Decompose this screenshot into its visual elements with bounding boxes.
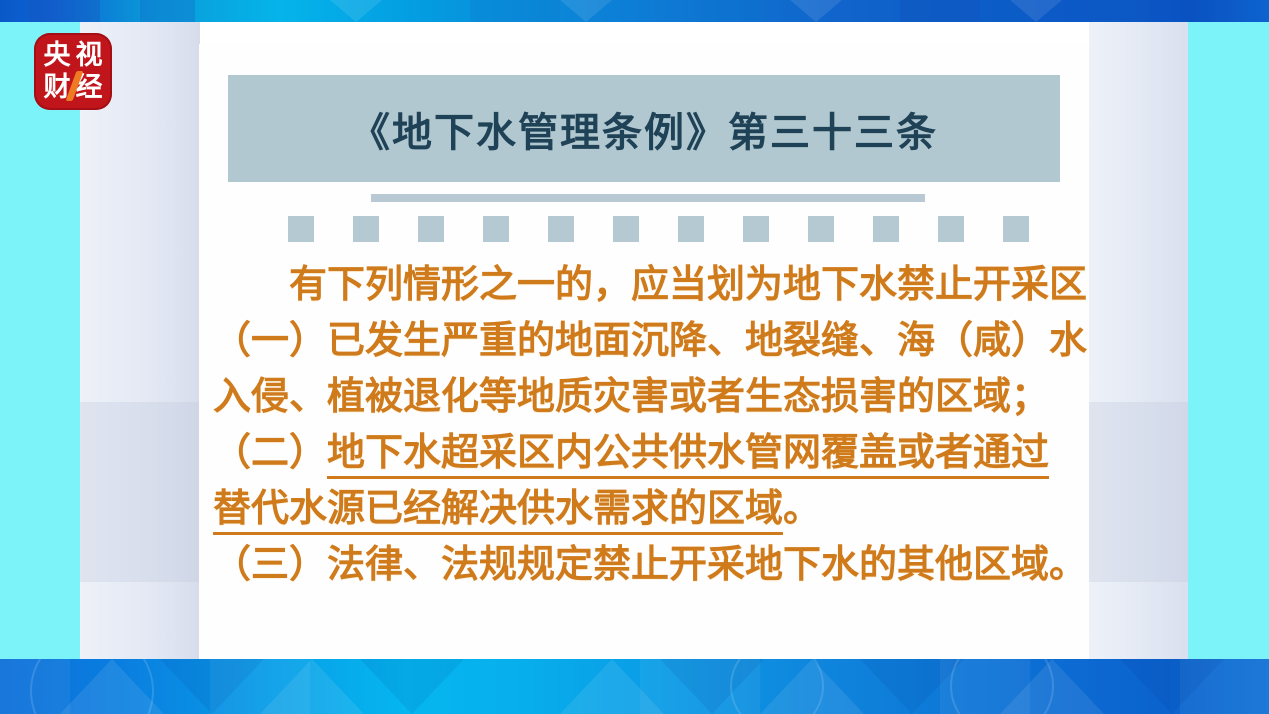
band-circle bbox=[30, 659, 154, 714]
right-gutter bbox=[1089, 22, 1188, 659]
body-line-item-1b: 入侵、植被退化等地质灾害或者生态损害的区域； bbox=[213, 368, 1079, 424]
band-triangle bbox=[1120, 659, 1224, 714]
left-gutter bbox=[80, 22, 200, 659]
band-circle bbox=[730, 659, 824, 714]
title-banner: 《地下水管理条例》第三十三条 bbox=[228, 75, 1060, 182]
body-line-text: （一）已发生严重的地面沉降、地裂缝、海（咸）水 bbox=[213, 318, 1087, 362]
body-line-text-underlined: 替代水源已经解决供水需求的区域 bbox=[213, 486, 783, 535]
right-cyan-panel bbox=[1188, 22, 1269, 659]
page-title: 《地下水管理条例》第三十三条 bbox=[350, 100, 938, 158]
decorative-square bbox=[353, 216, 379, 242]
band-shape bbox=[30, 0, 100, 22]
content-card: 《地下水管理条例》第三十三条 有下列情形之一的，应当划为地下水禁止开采区 （一）… bbox=[199, 44, 1089, 659]
body-line-text: 有下列情形之一的，应当划为地下水禁止开采区 bbox=[289, 262, 1087, 306]
cctv-finance-logo: 央 视 财 经 bbox=[34, 33, 112, 110]
regulation-body: 有下列情形之一的，应当划为地下水禁止开采区 （一）已发生严重的地面沉降、地裂缝、… bbox=[213, 256, 1079, 592]
band-triangle bbox=[260, 659, 364, 714]
band-shape bbox=[470, 0, 560, 22]
decorative-square bbox=[613, 216, 639, 242]
decorative-square bbox=[288, 216, 314, 242]
decorative-square bbox=[808, 216, 834, 242]
body-line-item-2b: 替代水源已经解决供水需求的区域。 bbox=[213, 480, 1079, 536]
body-line-lead: 有下列情形之一的，应当划为地下水禁止开采区 bbox=[213, 256, 1079, 312]
band-triangle bbox=[1010, 0, 1062, 22]
decorative-square bbox=[418, 216, 444, 242]
bottom-decorative-band bbox=[0, 659, 1269, 714]
band-triangle bbox=[560, 0, 612, 22]
decorative-square bbox=[483, 216, 509, 242]
logo-char-shi: 视 bbox=[76, 42, 103, 69]
body-line-suffix: 。 bbox=[783, 486, 821, 530]
decorative-square-row bbox=[288, 216, 1018, 243]
band-shape bbox=[900, 0, 980, 22]
band-triangle bbox=[160, 659, 264, 714]
decorative-square bbox=[1003, 216, 1029, 242]
band-triangle bbox=[360, 659, 464, 714]
band-triangle bbox=[790, 0, 842, 22]
body-line-item-3: （三）法律、法规规定禁止开采地下水的其他区域。 bbox=[213, 536, 1079, 592]
body-line-text: 入侵、植被退化等地质灾害或者生态损害的区域； bbox=[213, 374, 1049, 418]
title-underline-bar bbox=[371, 194, 925, 202]
gutter-band bbox=[1089, 402, 1188, 582]
decorative-square bbox=[548, 216, 574, 242]
band-shape bbox=[1090, 0, 1150, 22]
band-triangle bbox=[330, 0, 382, 22]
logo-char-yang: 央 bbox=[44, 42, 71, 69]
body-line-text-underlined: 地下水超采区内公共供水管网覆盖或者通过 bbox=[327, 430, 1049, 479]
decorative-square bbox=[873, 216, 899, 242]
body-line-item-1a: （一）已发生严重的地面沉降、地裂缝、海（咸）水 bbox=[213, 312, 1079, 368]
gutter-band bbox=[80, 402, 200, 582]
body-line-item-2a: （二）地下水超采区内公共供水管网覆盖或者通过 bbox=[213, 424, 1079, 480]
decorative-square bbox=[743, 216, 769, 242]
decorative-square bbox=[938, 216, 964, 242]
body-line-text: （三）法律、法规规定禁止开采地下水的其他区域。 bbox=[213, 542, 1087, 586]
band-triangle bbox=[860, 659, 964, 714]
left-cyan-panel bbox=[0, 22, 80, 659]
band-shape bbox=[140, 0, 195, 22]
band-circle bbox=[950, 659, 1054, 714]
body-line-prefix: （二） bbox=[213, 430, 327, 474]
band-shape bbox=[700, 0, 760, 22]
band-triangle bbox=[560, 659, 664, 714]
top-decorative-band bbox=[0, 0, 1269, 22]
broadcast-screen: 《地下水管理条例》第三十三条 有下列情形之一的，应当划为地下水禁止开采区 （一）… bbox=[0, 0, 1269, 714]
decorative-square bbox=[678, 216, 704, 242]
